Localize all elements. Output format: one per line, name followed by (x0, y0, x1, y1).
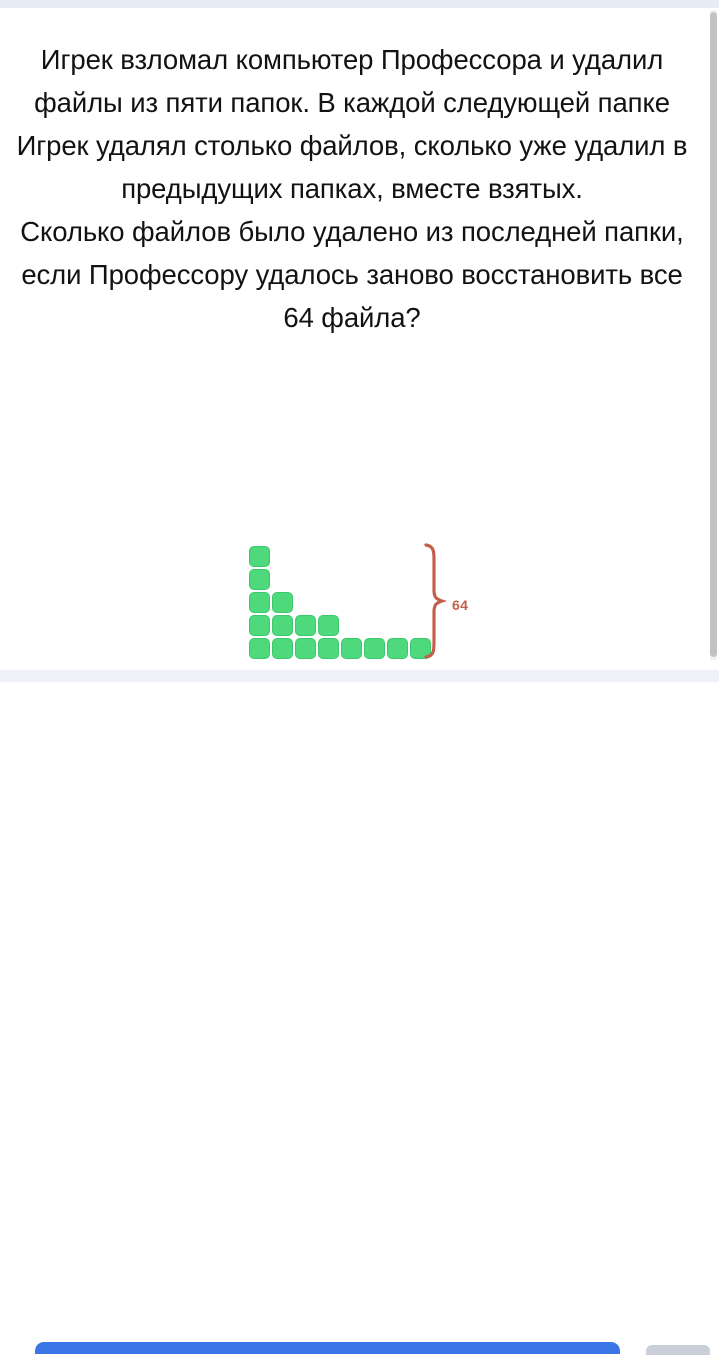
scrollbar-thumb[interactable] (710, 12, 717, 657)
primary-action-button[interactable] (35, 1342, 620, 1354)
unit-block-rows (249, 546, 431, 661)
bottom-chrome-band (0, 670, 719, 682)
block-row-4 (249, 615, 431, 636)
unit-block (318, 615, 339, 636)
total-brace-label: 64 (452, 597, 468, 613)
total-brace-icon (420, 542, 450, 660)
secondary-action-chip[interactable] (646, 1345, 710, 1355)
unit-block (272, 615, 293, 636)
top-chrome-band (0, 0, 719, 8)
files-per-folder-diagram (0, 538, 719, 668)
block-row-5 (249, 638, 431, 659)
task-paragraph-1: Игрек взломал компьютер Профессора и уда… (12, 38, 692, 210)
unit-block (249, 638, 270, 659)
unit-block (387, 638, 408, 659)
unit-block (272, 592, 293, 613)
unit-block (272, 638, 293, 659)
unit-block (249, 569, 270, 590)
unit-block (295, 638, 316, 659)
unit-block (249, 615, 270, 636)
unit-block (249, 592, 270, 613)
unit-block (341, 638, 362, 659)
block-row-3 (249, 592, 431, 613)
content-page: Игрек взломал компьютер Профессора и уда… (0, 8, 719, 670)
unit-block (295, 615, 316, 636)
task-text: Игрек взломал компьютер Профессора и уда… (12, 38, 692, 339)
unit-block (364, 638, 385, 659)
unit-block (249, 546, 270, 567)
unit-block (318, 638, 339, 659)
block-row-2 (249, 569, 431, 590)
block-row-1 (249, 546, 431, 567)
task-paragraph-2: Сколько файлов было удалено из последней… (12, 210, 692, 339)
